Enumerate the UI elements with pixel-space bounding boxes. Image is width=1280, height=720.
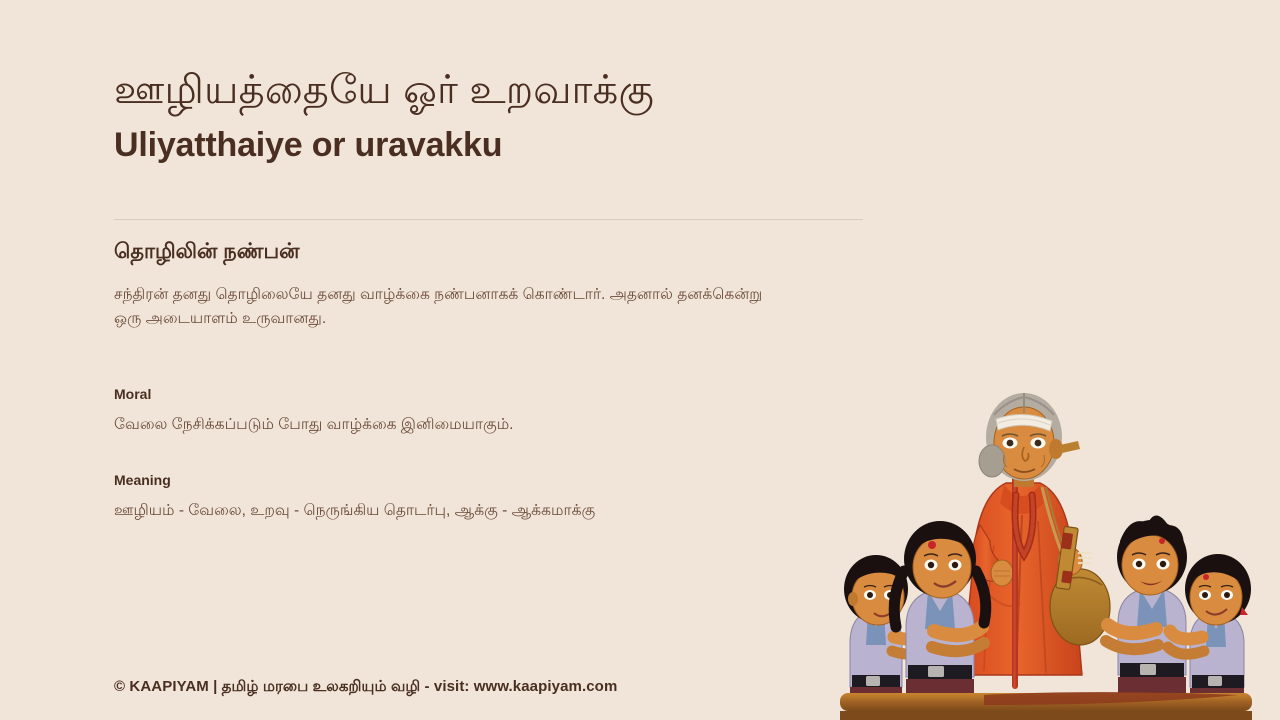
elder-sage-with-children-illustration	[834, 375, 1264, 720]
story-body-text: சந்திரன் தனது தொழிலையே தனது வாழ்க்கை நண்…	[114, 283, 774, 331]
page-title-tamil: ஊழியத்தையே ஓர் உறவாக்கு	[114, 66, 874, 115]
slide-canvas: ஊழியத்தையே ஓர் உறவாக்கு Uliyatthaiye or …	[0, 0, 1280, 720]
wooden-bench	[840, 692, 1252, 720]
header-block: ஊழியத்தையே ஓர் உறவாக்கு Uliyatthaiye or …	[114, 66, 874, 166]
child-figure-left-girl	[894, 521, 986, 720]
page-title-transliteration: Uliyatthaiye or uravakku	[114, 124, 874, 167]
child-figure-right-boy	[1106, 515, 1187, 720]
meaning-label: Meaning	[114, 471, 171, 489]
meaning-text: ஊழியம் - வேலை, உறவு - நெருங்கிய தொடர்பு,…	[114, 499, 814, 523]
header-divider	[114, 219, 863, 220]
footer-credit: © KAAPIYAM | தமிழ் மரபை உலகறியும் வழி - …	[114, 678, 617, 697]
moral-label: Moral	[114, 385, 151, 403]
moral-text: வேலை நேசிக்கப்படும் போது வாழ்க்கை இனிமைய…	[114, 413, 814, 437]
story-heading: தொழிலின் நண்பன்	[114, 238, 299, 265]
